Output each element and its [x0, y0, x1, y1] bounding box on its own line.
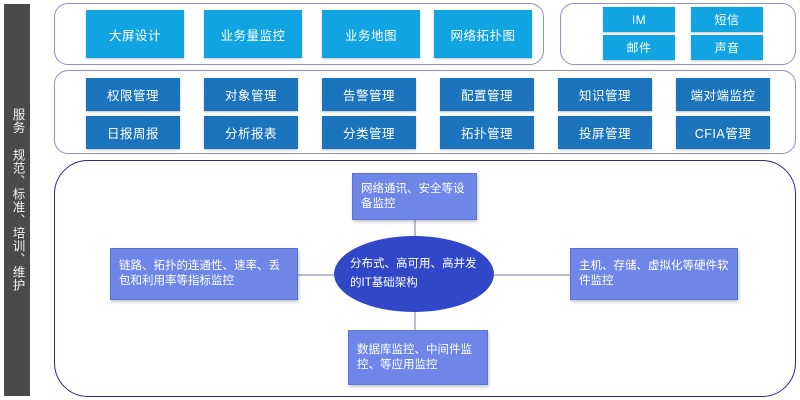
tile-big-screen-design[interactable]: 大屏设计 [86, 10, 184, 58]
box-network-security-device-monitoring[interactable]: 网络通讯、安全等设备监控 [352, 173, 477, 220]
diagram-root: 服务 规范、标准、培训、维护 大屏设计 业务量监控 业务地图 网络拓扑图 IM … [0, 0, 800, 400]
box-link-topology-metrics-monitoring[interactable]: 链路、拓扑的连通性、速率、丢包和利用率等指标监控 [110, 248, 298, 300]
tile-analysis-report[interactable]: 分析报表 [204, 116, 298, 149]
tile-email[interactable]: 邮件 [603, 35, 675, 60]
tile-alarm-management[interactable]: 告警管理 [322, 78, 416, 111]
tile-end-to-end-monitoring[interactable]: 端对端监控 [676, 78, 770, 111]
tile-permission-management[interactable]: 权限管理 [86, 78, 180, 111]
tile-network-topology-map[interactable]: 网络拓扑图 [434, 10, 532, 58]
ellipse-it-architecture-core[interactable]: 分布式、高可用、高并发的IT基础架构 [334, 236, 494, 312]
tile-business-volume-monitor[interactable]: 业务量监控 [204, 10, 302, 58]
tile-knowledge-management[interactable]: 知识管理 [558, 78, 652, 111]
service-sidebar: 服务 规范、标准、培训、维护 [4, 4, 30, 396]
tile-im[interactable]: IM [603, 7, 675, 32]
box-host-storage-virtualization-monitoring[interactable]: 主机、存储、虚拟化等硬件软件监控 [570, 248, 738, 300]
tile-business-map[interactable]: 业务地图 [322, 10, 420, 58]
tile-configuration-management[interactable]: 配置管理 [440, 78, 534, 111]
tile-classification-management[interactable]: 分类管理 [322, 116, 416, 149]
tile-object-management[interactable]: 对象管理 [204, 78, 298, 111]
box-database-middleware-application-monitoring[interactable]: 数据库监控、中间件监控、等应用监控 [348, 330, 488, 385]
tile-sound[interactable]: 声音 [691, 35, 763, 60]
sidebar-label: 服务 规范、标准、培训、维护 [9, 108, 26, 292]
tile-cfia-management[interactable]: CFIA管理 [676, 116, 770, 149]
tile-screen-projection-management[interactable]: 投屏管理 [558, 116, 652, 149]
tile-daily-weekly-report[interactable]: 日报周报 [86, 116, 180, 149]
tile-sms[interactable]: 短信 [691, 7, 763, 32]
tile-topology-management[interactable]: 拓扑管理 [440, 116, 534, 149]
